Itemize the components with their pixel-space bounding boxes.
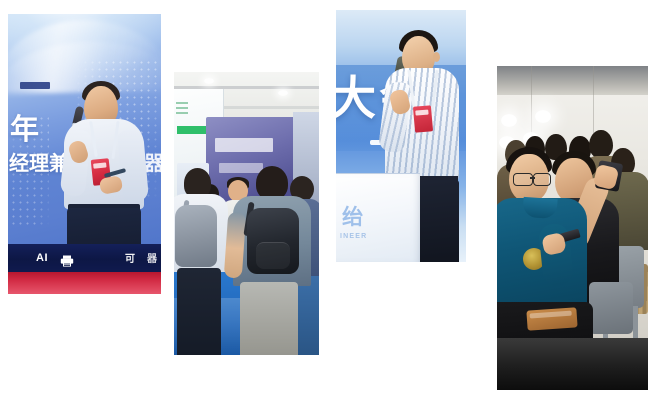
speaker-name-badge [413,105,433,132]
podium-speaker-photo[interactable]: 大会 绐 INEER [336,10,466,262]
expo-hall-scene [174,72,319,355]
visitor-center-head [256,166,288,200]
led-band-right-label: 可 [125,250,135,265]
podium-speaker-scene: 大会 绐 INEER [336,10,466,262]
visitor-center-trousers [240,282,298,355]
stage-speaker-photo[interactable]: 年 经理兼 器 AI [8,14,161,294]
podium-logo-text: 绐 [342,206,376,228]
led-band-ai-label: AI [36,252,48,264]
expo-aisle-crowd-photo[interactable] [174,72,319,355]
audience-scene [497,66,648,390]
eyeglasses-right-lens-icon [533,173,551,186]
visitor-center-backpack-pocket [256,242,290,269]
audience-background-head [589,130,613,158]
visitor-left-trousers [177,268,221,355]
led-lower-band [8,244,161,272]
stage-spotlight [535,110,551,123]
wall-upper-shadow [497,66,648,95]
led-band-far-right-label: 器 [147,250,157,265]
stage-carpet [8,272,161,294]
stage-speaker-scene: 年 经理兼 器 AI [8,14,161,294]
eyeglasses-left-lens-icon [513,173,533,186]
speaker-ear [433,52,440,62]
podium-logo-subtext: INEER [340,233,367,240]
booth-left-signage [176,102,188,114]
venue-floor [497,338,648,390]
visitor-left-backpack [175,205,217,267]
booth-left-green-accent [177,126,206,134]
booth-sign-secondary [219,163,264,173]
backdrop-headline-text: 年 [10,106,40,148]
notebook-on-lap [526,307,577,330]
stage-spotlight [501,114,517,127]
booth-sign [215,138,273,153]
photo-collage: 年 经理兼 器 AI [0,0,658,408]
chair-backrest-secondary [589,282,633,334]
seated-audience-photo[interactable] [497,66,648,390]
backdrop-accent-bar [20,82,50,89]
podium: 绐 INEER [336,173,420,262]
ceiling-lamp [204,78,214,84]
eyeglasses-bridge-icon [530,177,535,179]
printer-icon [60,254,74,266]
backdrop-subtitle-text: 经理兼 [9,147,69,176]
ceiling-lamp [278,90,288,96]
